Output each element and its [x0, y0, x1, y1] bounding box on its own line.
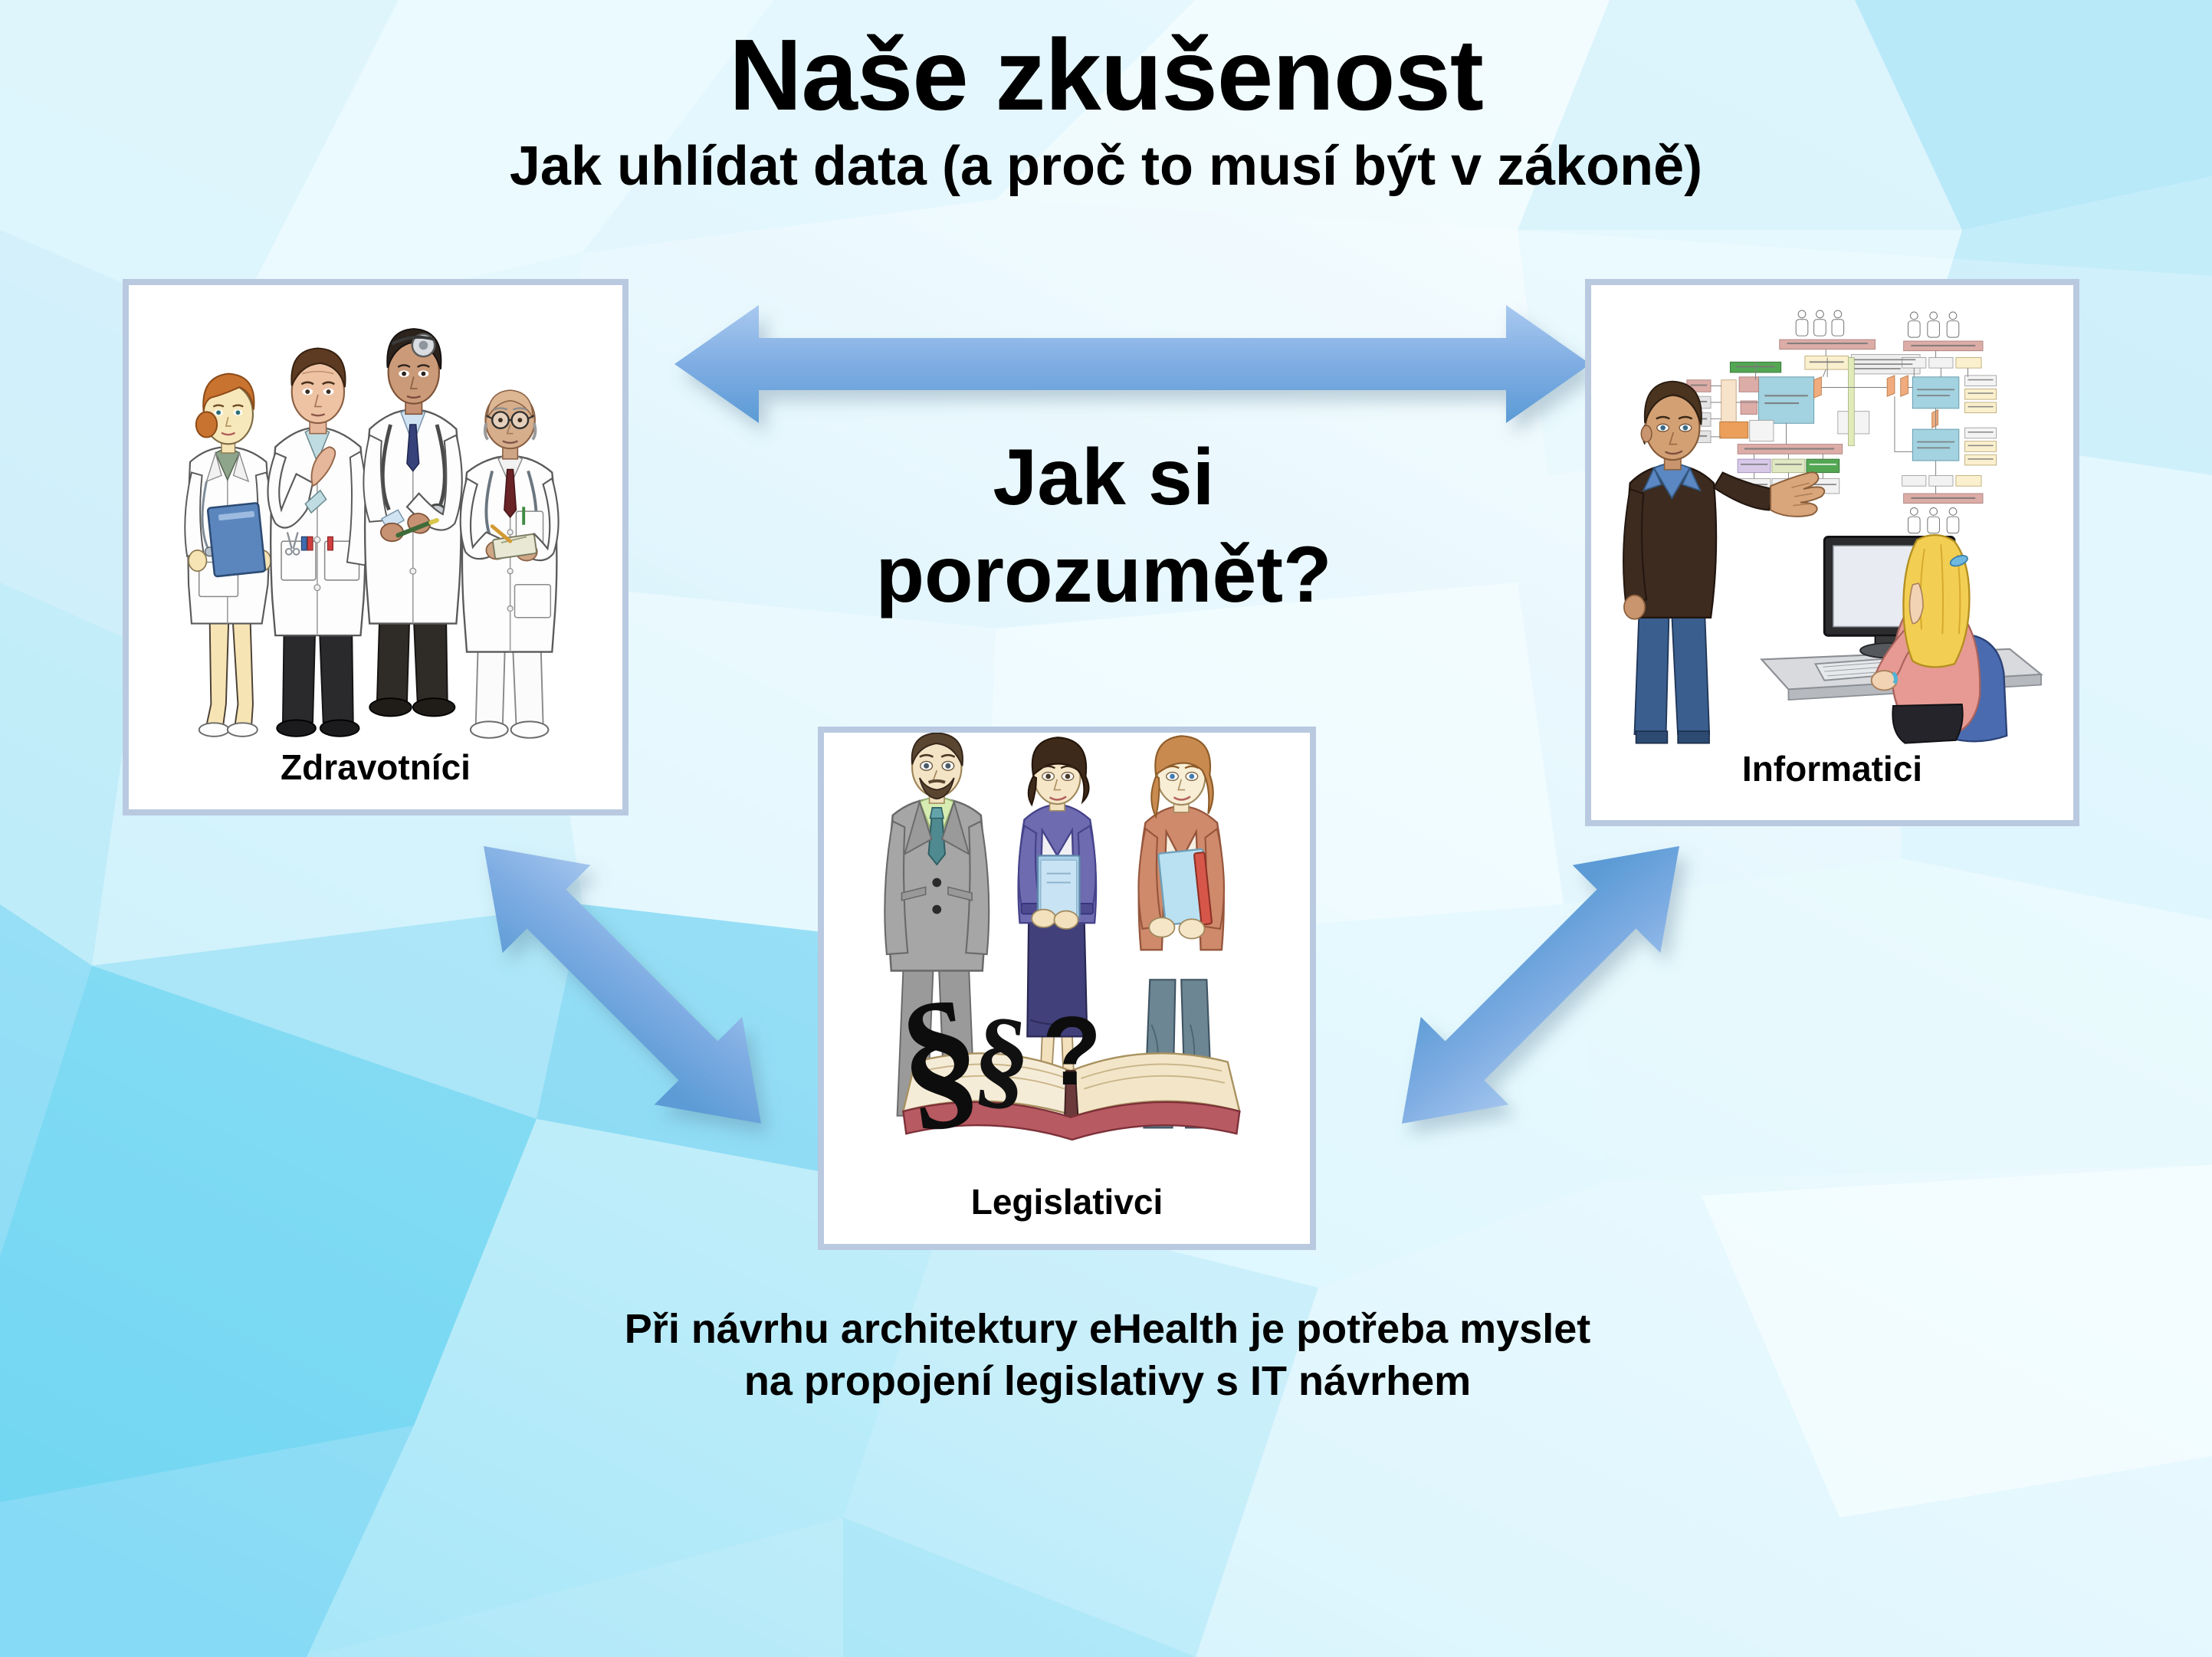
page-subtitle: Jak uhlídat data (a proč to musí být v z… [0, 136, 2212, 197]
question-mark-icon: ? [1042, 996, 1101, 1105]
center-question-line-2: porozumět? [759, 527, 1449, 624]
panel-label-zdravotnici: Zdravotníci [129, 746, 622, 788]
it-specialists-illustration [1591, 285, 2073, 820]
panel-legislativci[interactable]: § § ? Legislativci [818, 727, 1316, 1250]
panel-label-informatici: Informatici [1591, 748, 2073, 789]
page-title: Naše zkušenost [0, 21, 2212, 129]
bottom-caption-line-1: Při návrhu architektury eHealth je potře… [330, 1303, 1885, 1355]
healthcare-workers-illustration [129, 285, 622, 809]
slide-canvas: Naše zkušenost Jak uhlídat data (a proč … [0, 0, 2212, 1657]
bottom-caption: Při návrhu architektury eHealth je potře… [330, 1303, 1885, 1407]
panel-label-legislativci: Legislativci [824, 1181, 1310, 1222]
panel-informatici[interactable]: Informatici [1585, 279, 2079, 826]
panel-zdravotnici[interactable]: Zdravotníci [123, 279, 628, 815]
center-question-line-1: Jak si [759, 429, 1449, 527]
title-block: Naše zkušenost Jak uhlídat data (a proč … [0, 21, 2212, 197]
center-question: Jak si porozumět? [759, 429, 1449, 624]
legislators-illustration: § § ? [824, 733, 1310, 1244]
bottom-caption-line-2: na propojení legislativy s IT návrhem [330, 1355, 1885, 1407]
